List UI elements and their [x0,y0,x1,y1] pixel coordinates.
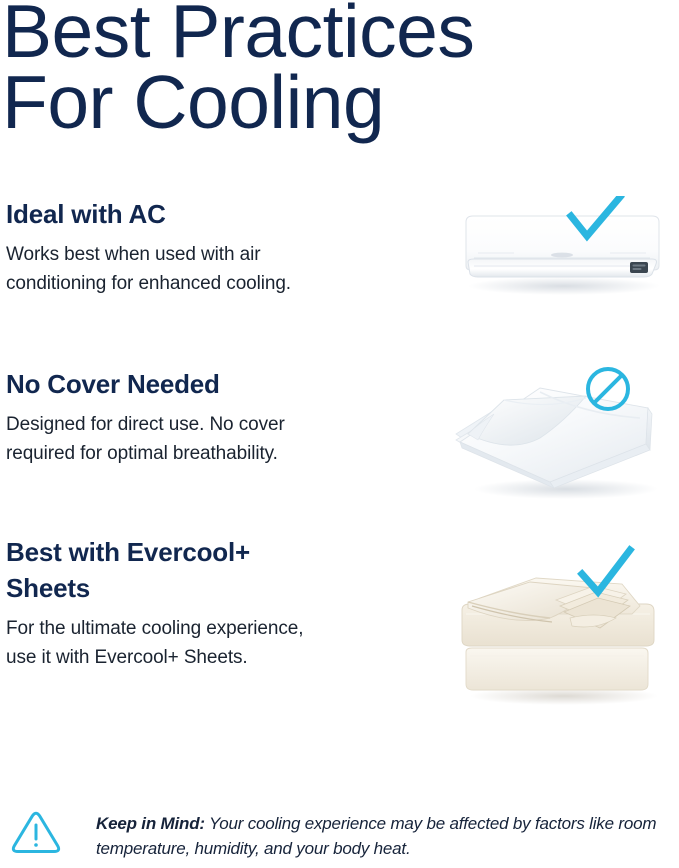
keep-in-mind-lead: Keep in Mind: [96,814,205,833]
section-body: For the ultimate cooling experience, use… [6,614,406,672]
folded-white-sheet-icon [444,362,679,502]
keep-in-mind-text: Keep in Mind: Your cooling experience ma… [96,811,666,861]
cream-sheet-stack-illustration [444,544,679,709]
section-body: Designed for direct use. No cover requir… [6,410,406,468]
air-conditioner-illustration [444,196,679,306]
section-heading: Best with Evercool+ Sheets [6,534,406,606]
warning-triangle-container [10,808,62,865]
keep-in-mind-callout: Keep in Mind: Your cooling experience ma… [0,800,679,868]
section-heading: No Cover Needed [6,366,406,402]
page-title: Best Practices For Cooling [2,0,662,138]
section-text-block: No Cover Needed Designed for direct use.… [6,366,406,468]
stack-of-cream-sheets-icon [444,544,679,709]
section-text-block: Ideal with AC Works best when used with … [6,196,406,298]
warning-triangle-icon [10,808,62,860]
section-text-block: Best with Evercool+ Sheets For the ultim… [6,534,406,672]
section-body: Works best when used with air conditioni… [6,240,406,298]
folded-sheet-illustration [444,362,679,502]
air-conditioner-unit-icon [444,196,679,306]
section-heading: Ideal with AC [6,196,406,232]
